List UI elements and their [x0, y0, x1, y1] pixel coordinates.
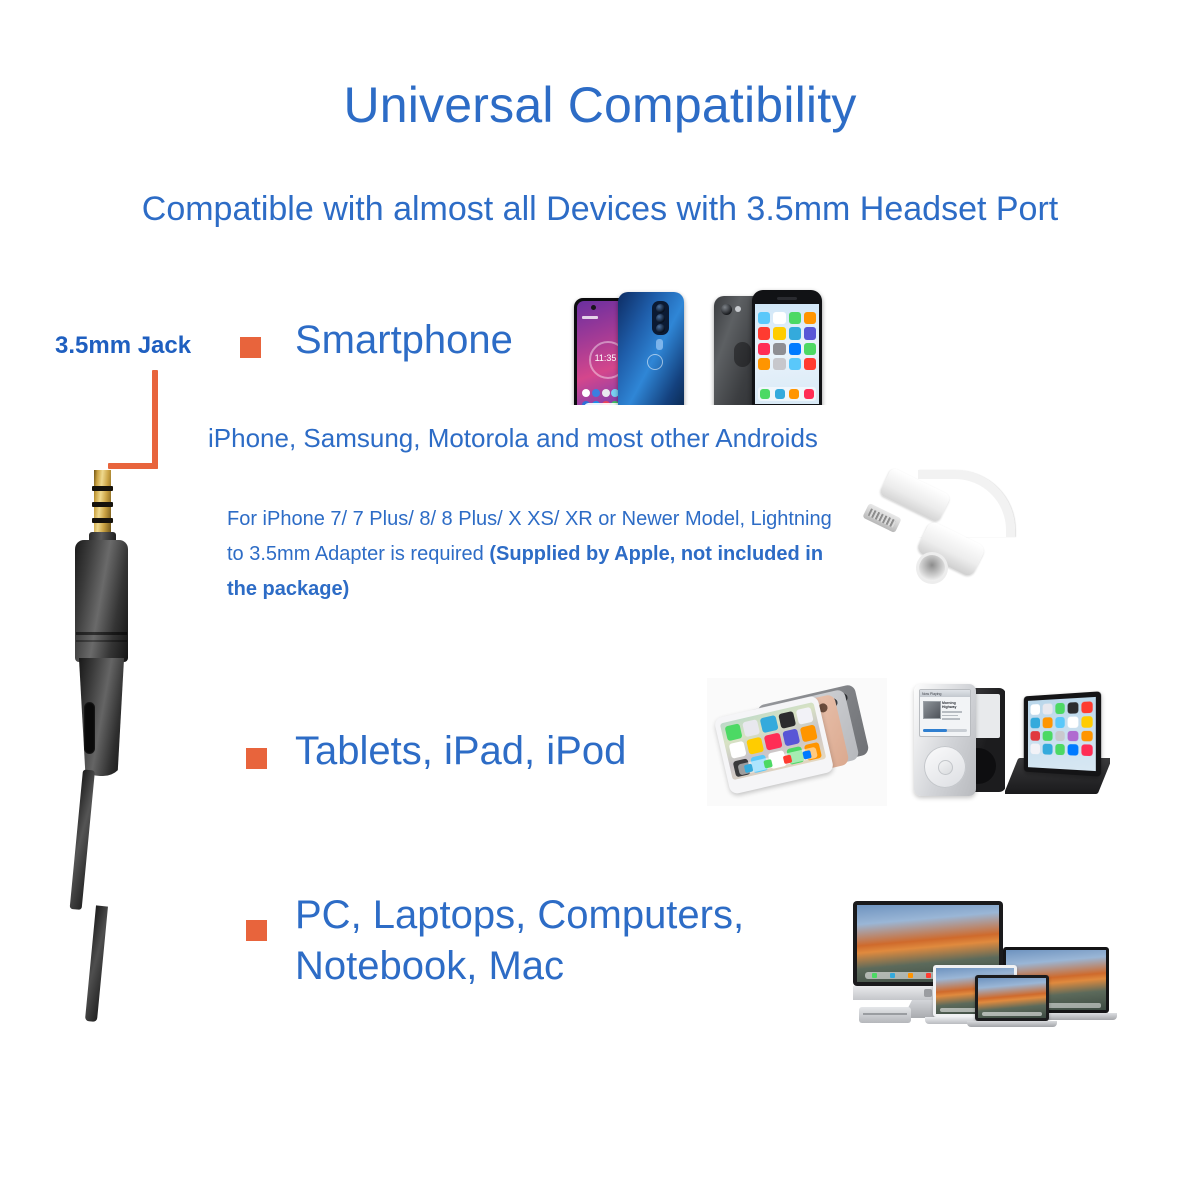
- photo-tablet-folio-case: [1005, 690, 1110, 802]
- mac-mini: [859, 1007, 911, 1023]
- ipod-track-title: Morning Highway: [942, 701, 967, 709]
- app-icon-grid: [758, 312, 816, 370]
- macbook-front-base: [967, 1021, 1057, 1027]
- macbook-front-display: [975, 975, 1049, 1021]
- photo-iphone: [700, 280, 828, 405]
- headphone-cable: [85, 905, 108, 1022]
- motorola-logo-icon: [647, 354, 663, 370]
- iphone-home-screen: [755, 304, 819, 404]
- jack-tip: [95, 456, 110, 490]
- jack-housing: [75, 540, 128, 662]
- ipod-silver: Now Playing Morning Highway: [914, 684, 976, 796]
- photo-ipad-family: [707, 678, 887, 806]
- touch-id-ring: [734, 342, 751, 367]
- macos-dock: [982, 1012, 1042, 1016]
- headphone-cable: [70, 769, 95, 910]
- section-note-smartphone: For iPhone 7/ 7 Plus/ 8/ 8 Plus/ X XS/ X…: [227, 502, 852, 607]
- photo-lightning-adapter: [858, 458, 1048, 613]
- tablet-app-grid: [1031, 701, 1093, 756]
- dock: [758, 387, 816, 401]
- jack-callout-label: 3.5mm Jack: [55, 332, 191, 360]
- jack-insulator-band: [92, 486, 113, 491]
- ipod-clickwheel: [924, 746, 966, 788]
- flash-icon: [656, 339, 663, 350]
- section-body-smartphone: iPhone, Samsung, Motorola and most other…: [208, 420, 818, 457]
- ipad-front-white: [714, 695, 835, 795]
- bullet-smartphone: [240, 337, 261, 358]
- camera-module-icon: [652, 301, 669, 335]
- ipod-progress-bar: [923, 729, 967, 732]
- bullet-tablets: [246, 748, 267, 769]
- punch-hole-camera-icon: [591, 305, 596, 310]
- iphone-front-view: [752, 290, 822, 405]
- ipod-center-button: [938, 760, 953, 775]
- bullet-computers: [246, 920, 267, 941]
- section-heading-tablets: Tablets, iPad, iPod: [295, 726, 626, 777]
- rear-camera-icon: [721, 304, 732, 315]
- section-heading-computers: PC, Laptops, Computers, Notebook, Mac: [295, 890, 744, 992]
- photo-motorola-phone: 11:35: [552, 280, 692, 405]
- photo-ipod-classic: Now Playing Morning Highway: [908, 678, 1018, 803]
- photo-mac-family: [845, 895, 1135, 1035]
- tablet-in-case: [1024, 691, 1101, 776]
- apple-logo-icon: [924, 989, 932, 997]
- jack-insulator-band: [92, 502, 113, 507]
- flash-icon: [735, 306, 741, 312]
- page-subtitle: Compatible with almost all Devices with …: [0, 190, 1200, 229]
- jack-housing-groove: [76, 640, 127, 642]
- ipod-now-playing-label: Now Playing: [922, 692, 941, 696]
- jack-insulator-band: [92, 518, 113, 523]
- motorola-back-view: [618, 292, 684, 405]
- ipod-screen: Now Playing Morning Highway: [919, 689, 971, 737]
- page-title: Universal Compatibility: [0, 78, 1200, 133]
- lightning-pin-icon: [862, 503, 901, 533]
- ipod-album-art: [923, 701, 941, 719]
- earpiece-icon: [777, 297, 797, 300]
- jack-housing-slot: [84, 702, 95, 754]
- jack-housing-groove: [76, 632, 127, 635]
- headphone-jack-illustration: [56, 440, 176, 940]
- macbook-front-wallpaper: [978, 978, 1046, 1018]
- section-heading-smartphone: Smartphone: [295, 315, 513, 366]
- tablet-screen: [1028, 697, 1096, 771]
